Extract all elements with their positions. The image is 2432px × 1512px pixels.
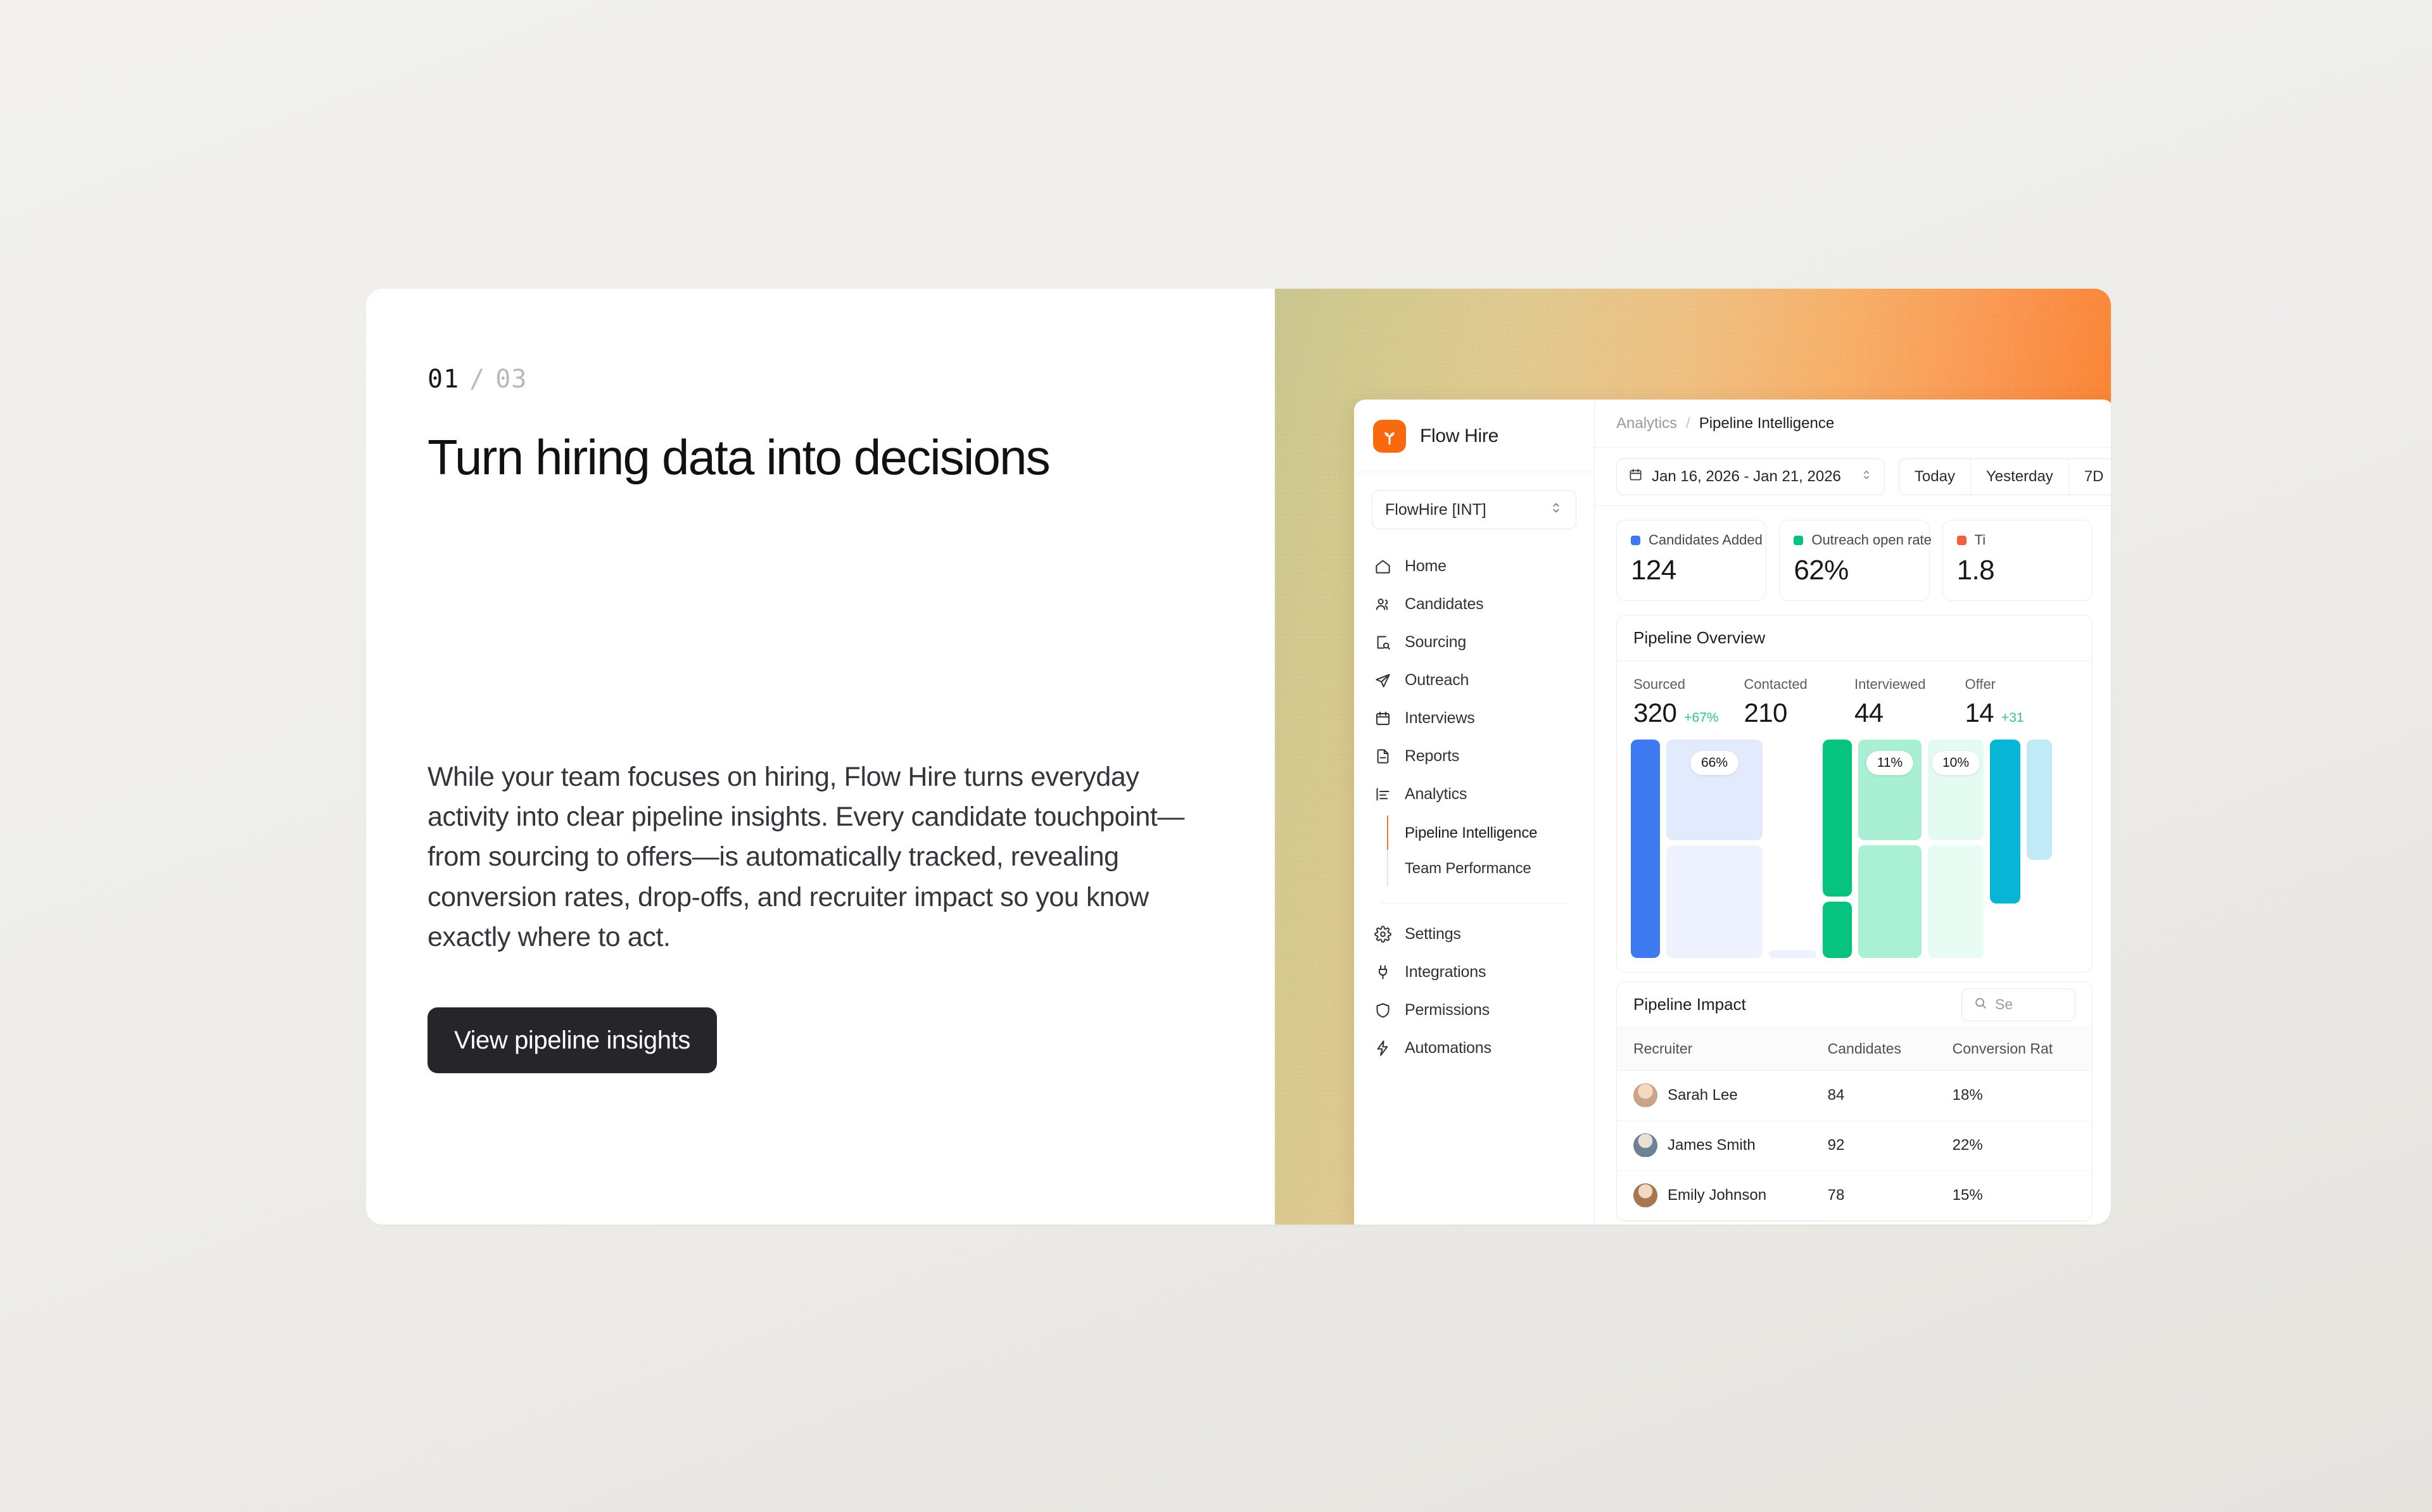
range-button-today[interactable]: Today bbox=[1899, 459, 1971, 495]
sidebar-nav: Home Candidates Sourcing bbox=[1354, 536, 1594, 1067]
plug-icon bbox=[1373, 962, 1392, 981]
sidebar-item-label: Settings bbox=[1405, 925, 1461, 943]
slide-counter-separator: / bbox=[469, 365, 485, 394]
sidebar-item-label: Integrations bbox=[1405, 963, 1486, 981]
chevron-updown-icon bbox=[1549, 501, 1563, 519]
funnel-stage-value: 14 bbox=[1965, 698, 1994, 728]
search-placeholder: Se bbox=[1995, 996, 2013, 1013]
sidebar-item-label: Outreach bbox=[1405, 671, 1469, 690]
funnel-stage-interviewed: Interviewed 44 bbox=[1854, 676, 1965, 728]
sidebar-item-label: Interviews bbox=[1405, 709, 1475, 728]
sidebar-item-team-performance[interactable]: Team Performance bbox=[1388, 851, 1585, 886]
chart-segment bbox=[1666, 845, 1763, 958]
cell-candidates: 78 bbox=[1811, 1171, 1936, 1221]
slide-card: 01 / 03 Turn hiring data into decisions … bbox=[366, 289, 2111, 1225]
gear-icon bbox=[1373, 924, 1392, 943]
file-minus-icon bbox=[1373, 747, 1392, 765]
kpi-label: Candidates Added bbox=[1631, 532, 1752, 548]
status-dot-green bbox=[1794, 536, 1803, 545]
date-range-value: Jan 16, 2026 - Jan 21, 2026 bbox=[1652, 468, 1841, 486]
chart-column-sourced-primary[interactable] bbox=[1631, 740, 1660, 958]
sprout-logo-icon bbox=[1373, 420, 1406, 453]
chart-column-offer-trailing[interactable] bbox=[2027, 740, 2052, 958]
pipeline-impact-table: Recruiter Candidates Conversion Rat bbox=[1617, 1028, 2092, 1221]
chart-value-badge: 10% bbox=[1932, 751, 1980, 775]
chart-column-interviewed-primary[interactable] bbox=[1823, 740, 1852, 958]
slide-body-text: While your team focuses on hiring, Flow … bbox=[427, 757, 1219, 957]
sidebar-item-pipeline-intelligence[interactable]: Pipeline Intelligence bbox=[1388, 816, 1585, 851]
cell-conversion-rate: 22% bbox=[1936, 1121, 2092, 1171]
sidebar-item-outreach[interactable]: Outreach bbox=[1363, 661, 1585, 699]
sidebar-item-home[interactable]: Home bbox=[1363, 547, 1585, 585]
sidebar-item-automations[interactable]: Automations bbox=[1363, 1029, 1585, 1067]
kpi-label-text: Candidates Added bbox=[1649, 532, 1763, 548]
funnel-stage-label: Offer bbox=[1965, 676, 2076, 693]
search-input[interactable]: Se bbox=[1961, 988, 2075, 1021]
funnel-stage-value: 44 bbox=[1854, 698, 1884, 728]
pipeline-impact-panel: Pipeline Impact Se Recruiter C bbox=[1616, 981, 2093, 1221]
pipeline-impact-header: Pipeline Impact Se bbox=[1617, 982, 2092, 1028]
sidebar-divider bbox=[1381, 903, 1567, 904]
calendar-icon bbox=[1373, 709, 1392, 728]
org-switcher-value: FlowHire [INT] bbox=[1385, 501, 1486, 519]
breadcrumb-parent[interactable]: Analytics bbox=[1616, 415, 1677, 432]
org-switcher[interactable]: FlowHire [INT] bbox=[1372, 490, 1576, 529]
sidebar-item-analytics[interactable]: Analytics bbox=[1363, 775, 1585, 813]
funnel-stage-value: 320 bbox=[1633, 698, 1676, 728]
slide-counter-current: 01 bbox=[427, 365, 459, 394]
kpi-label-text: Outreach open rate bbox=[1811, 532, 1932, 548]
funnel-stage-label: Contacted bbox=[1744, 676, 1855, 693]
recruiter-name: James Smith bbox=[1668, 1137, 1756, 1154]
cell-candidates: 84 bbox=[1811, 1071, 1936, 1121]
cell-recruiter: Emily Johnson bbox=[1617, 1171, 1811, 1221]
sidebar-item-sourcing[interactable]: Sourcing bbox=[1363, 623, 1585, 661]
kpi-label-text: Ti bbox=[1975, 532, 1986, 548]
app-main: Analytics / Pipeline Intelligence Jan 16… bbox=[1595, 400, 2111, 1225]
bolt-icon bbox=[1373, 1038, 1392, 1057]
funnel-stage-offer: Offer 14 +31 bbox=[1965, 676, 2076, 728]
column-header-recruiter[interactable]: Recruiter bbox=[1617, 1028, 1811, 1071]
recruiter-name: Emily Johnson bbox=[1668, 1187, 1766, 1204]
sidebar-item-label: Automations bbox=[1405, 1039, 1491, 1057]
range-button-yesterday[interactable]: Yesterday bbox=[1971, 459, 2069, 495]
chart-segment bbox=[1990, 740, 2020, 904]
chart-value-badge: 11% bbox=[1866, 751, 1913, 775]
sidebar-item-label: Analytics bbox=[1405, 785, 1467, 803]
cell-candidates: 92 bbox=[1811, 1121, 1936, 1171]
slide-visual-pane: Flow Hire FlowHire [INT] bbox=[1275, 289, 2111, 1225]
column-header-conversion-rate[interactable]: Conversion Rat bbox=[1936, 1028, 2092, 1071]
sidebar-subnav-analytics: Pipeline Intelligence Team Performance bbox=[1387, 816, 1585, 886]
chart-value-badge: 66% bbox=[1690, 751, 1738, 775]
funnel-stage-sourced: Sourced 320 +67% bbox=[1633, 676, 1744, 728]
calendar-icon bbox=[1628, 467, 1643, 486]
range-button-7d[interactable]: 7D bbox=[2069, 459, 2111, 495]
column-header-candidates[interactable]: Candidates bbox=[1811, 1028, 1936, 1071]
breadcrumb: Analytics / Pipeline Intelligence bbox=[1595, 400, 2111, 448]
slide-counter: 01 / 03 bbox=[427, 365, 1275, 394]
sidebar-item-integrations[interactable]: Integrations bbox=[1363, 953, 1585, 991]
table-row[interactable]: Sarah Lee 84 18% bbox=[1617, 1071, 2092, 1121]
sidebar-item-label: Sourcing bbox=[1405, 633, 1466, 652]
kpi-card-candidates-added: Candidates Added 124 bbox=[1616, 520, 1766, 601]
page-title: Turn hiring data into decisions bbox=[427, 431, 1187, 484]
active-indicator-rail bbox=[1387, 816, 1388, 850]
chart-segment bbox=[2027, 740, 2052, 860]
chart-column-offer-a[interactable]: 10% bbox=[1928, 740, 1984, 958]
home-icon bbox=[1373, 557, 1392, 576]
panel-title: Pipeline Impact bbox=[1633, 995, 1746, 1014]
cell-conversion-rate: 15% bbox=[1936, 1171, 2092, 1221]
funnel-stage-delta: +67% bbox=[1684, 710, 1718, 726]
filter-bar: Jan 16, 2026 - Jan 21, 2026 Today Yester… bbox=[1595, 448, 2111, 506]
avatar bbox=[1633, 1183, 1657, 1207]
avatar bbox=[1633, 1083, 1657, 1107]
sidebar-item-label: Permissions bbox=[1405, 1001, 1490, 1019]
pipeline-overview-panel: Pipeline Overview Sourced 320 +67% Conta… bbox=[1616, 615, 2093, 973]
kpi-value: 124 bbox=[1631, 555, 1752, 586]
kpi-label: Outreach open rate bbox=[1794, 532, 1915, 548]
funnel-stage-contacted: Contacted 210 bbox=[1744, 676, 1855, 728]
sidebar-item-label: Reports bbox=[1405, 747, 1459, 765]
chart-column-contacted-a[interactable]: 66% bbox=[1666, 740, 1763, 958]
chevron-updown-icon bbox=[1860, 468, 1873, 486]
cell-conversion-rate: 18% bbox=[1936, 1071, 2092, 1121]
chart-segment bbox=[1823, 902, 1852, 958]
chart-segment bbox=[1928, 845, 1984, 958]
chart-column-offer-primary[interactable] bbox=[1990, 740, 2020, 958]
pipeline-funnel-chart: 66% 11 bbox=[1617, 740, 2092, 972]
breadcrumb-separator: / bbox=[1686, 415, 1690, 432]
sidebar-item-candidates[interactable]: Candidates bbox=[1363, 585, 1585, 623]
brand-name: Flow Hire bbox=[1420, 425, 1498, 447]
table-header-row: Recruiter Candidates Conversion Rat bbox=[1617, 1028, 2092, 1071]
funnel-stage-label: Sourced bbox=[1633, 676, 1744, 693]
date-range-picker[interactable]: Jan 16, 2026 - Jan 21, 2026 bbox=[1616, 458, 1885, 495]
sidebar-item-reports[interactable]: Reports bbox=[1363, 737, 1585, 775]
table-row[interactable]: James Smith 92 22% bbox=[1617, 1121, 2092, 1171]
chart-segment bbox=[1858, 845, 1922, 958]
cell-recruiter: Sarah Lee bbox=[1617, 1071, 1811, 1121]
kpi-row: Candidates Added 124 Outreach open rate … bbox=[1595, 506, 2111, 606]
sidebar-item-label: Home bbox=[1405, 557, 1447, 576]
sidebar-item-permissions[interactable]: Permissions bbox=[1363, 991, 1585, 1029]
funnel-stage-delta: +31 bbox=[2001, 710, 2024, 726]
send-icon bbox=[1373, 671, 1392, 690]
recruiter-name: Sarah Lee bbox=[1668, 1087, 1738, 1104]
slide-text-pane: 01 / 03 Turn hiring data into decisions … bbox=[366, 289, 1275, 1225]
kpi-card-outreach-open-rate: Outreach open rate 62% bbox=[1779, 520, 1929, 601]
table-row[interactable]: Emily Johnson 78 15% bbox=[1617, 1171, 2092, 1221]
chart-column-interviewed-a[interactable]: 11% bbox=[1858, 740, 1922, 958]
avatar bbox=[1633, 1133, 1657, 1157]
view-pipeline-insights-button[interactable]: View pipeline insights bbox=[427, 1007, 717, 1073]
shield-icon bbox=[1373, 1000, 1392, 1019]
kpi-card-time-clipped: Ti 1.8 bbox=[1942, 520, 2093, 601]
status-dot-blue bbox=[1631, 536, 1640, 545]
app-window-mockup: Flow Hire FlowHire [INT] bbox=[1354, 400, 2111, 1225]
chart-column-contacted-b[interactable] bbox=[1769, 740, 1816, 958]
breadcrumb-current: Pipeline Intelligence bbox=[1699, 415, 1834, 432]
kpi-value: 62% bbox=[1794, 555, 1915, 586]
users-icon bbox=[1373, 595, 1392, 614]
status-dot-red bbox=[1957, 536, 1966, 545]
cell-recruiter: James Smith bbox=[1617, 1121, 1811, 1171]
brand-row[interactable]: Flow Hire bbox=[1354, 400, 1594, 472]
funnel-stage-value: 210 bbox=[1744, 698, 1787, 728]
quick-range-group: Today Yesterday 7D 1 bbox=[1899, 458, 2111, 495]
app-sidebar: Flow Hire FlowHire [INT] bbox=[1354, 400, 1595, 1225]
bar-chart-icon bbox=[1373, 784, 1392, 803]
slide-counter-total: 03 bbox=[495, 365, 527, 394]
sidebar-item-interviews[interactable]: Interviews bbox=[1363, 699, 1585, 737]
kpi-label: Ti bbox=[1957, 532, 2078, 548]
sidebar-item-settings[interactable]: Settings bbox=[1363, 915, 1585, 953]
pipeline-overview-header: Pipeline Overview bbox=[1617, 615, 2092, 661]
sidebar-item-label: Candidates bbox=[1405, 595, 1483, 614]
chart-columns: 66% 11 bbox=[1631, 740, 2078, 958]
search-icon bbox=[1973, 996, 1987, 1014]
funnel-stage-label: Interviewed bbox=[1854, 676, 1965, 693]
chart-segment bbox=[1631, 740, 1660, 958]
panel-title: Pipeline Overview bbox=[1633, 628, 1765, 648]
chart-segment bbox=[1769, 950, 1816, 958]
chart-segment bbox=[1823, 740, 1852, 897]
search-doc-icon bbox=[1373, 633, 1392, 652]
funnel-stats-row: Sourced 320 +67% Contacted 210 bbox=[1617, 661, 2092, 740]
kpi-value: 1.8 bbox=[1957, 555, 2078, 586]
